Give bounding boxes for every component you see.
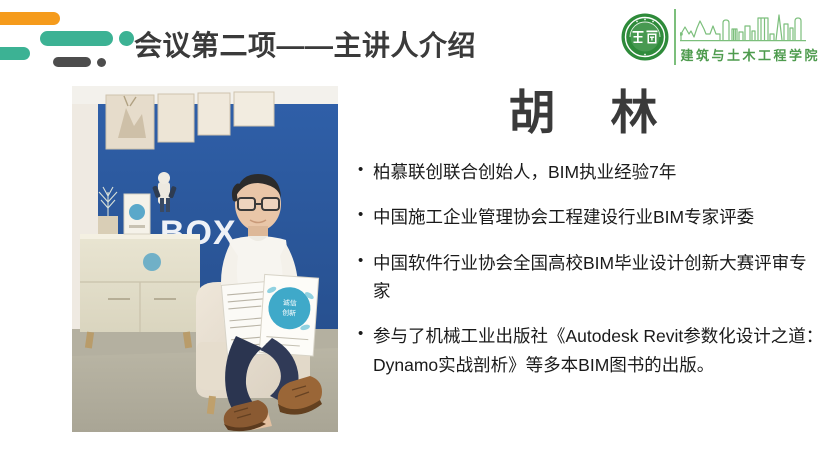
decor-teal-dot bbox=[119, 31, 134, 46]
college-logo: 建筑与土木工程学院 bbox=[620, 6, 820, 68]
seal-emblem-icon bbox=[620, 12, 670, 62]
decor-teal-bar-long bbox=[40, 31, 113, 46]
bio-item-text: 参与了机械工业出版社《Autodesk Revit参数化设计之道：Dynamo实… bbox=[373, 322, 824, 379]
bio-item: • 中国施工企业管理协会工程建设行业BIM专家评委 bbox=[358, 203, 824, 231]
slide-title: 会议第二项——主讲人介绍 bbox=[134, 24, 476, 64]
bullet-icon: • bbox=[358, 203, 373, 227]
city-skyline-icon bbox=[680, 10, 806, 44]
bio-item: • 柏慕联创联合创始人，BIM执业经验7年 bbox=[358, 158, 824, 186]
speaker-bio-list: • 柏慕联创联合创始人，BIM执业经验7年 • 中国施工企业管理协会工程建设行业… bbox=[358, 158, 824, 396]
speaker-name: 胡 林 bbox=[350, 74, 820, 143]
bullet-icon: • bbox=[358, 158, 373, 182]
presentation-slide: 会议第二项——主讲人介绍 bbox=[0, 0, 828, 456]
college-name-text: 建筑与土木工程学院 bbox=[680, 45, 820, 64]
decor-teal-bar-short bbox=[0, 47, 30, 60]
decor-dark-dot bbox=[97, 58, 106, 67]
speaker-photo-graphic: BOX bbox=[72, 86, 338, 432]
bio-item-text: 柏慕联创联合创始人，BIM执业经验7年 bbox=[373, 158, 824, 186]
bio-item-text: 中国软件行业协会全国高校BIM毕业设计创新大赛评审专家 bbox=[373, 249, 824, 306]
bullet-icon: • bbox=[358, 249, 373, 273]
decor-dark-bar bbox=[53, 57, 91, 67]
decor-orange-bar bbox=[0, 12, 60, 25]
speaker-photo: BOX bbox=[72, 86, 338, 432]
logo-text-group: 建筑与土木工程学院 bbox=[674, 9, 820, 65]
bullet-icon: • bbox=[358, 322, 373, 346]
bio-item: • 参与了机械工业出版社《Autodesk Revit参数化设计之道：Dynam… bbox=[358, 322, 824, 379]
bio-item: • 中国软件行业协会全国高校BIM毕业设计创新大赛评审专家 bbox=[358, 249, 824, 306]
bio-item-text: 中国施工企业管理协会工程建设行业BIM专家评委 bbox=[373, 203, 824, 231]
